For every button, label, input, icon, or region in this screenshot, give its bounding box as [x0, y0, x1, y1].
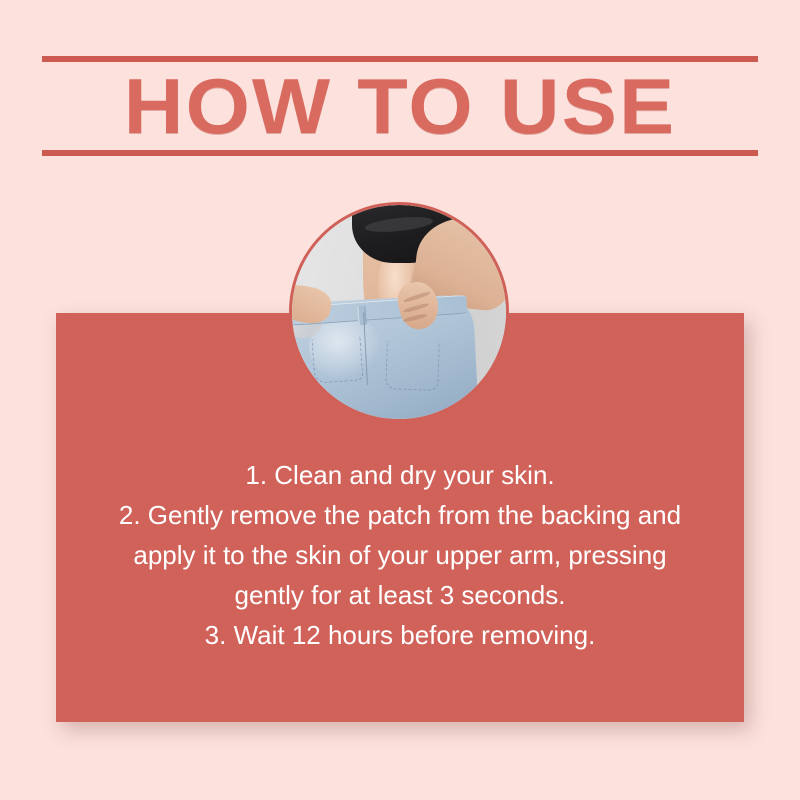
photo-inner [292, 205, 506, 419]
how-to-use-poster: HOW TO USE 1. Clean and dry your skin. 2… [0, 0, 800, 800]
photo-jeans-pocket [385, 341, 440, 391]
header-block: HOW TO USE [42, 56, 758, 156]
instruction-step-line: 3. Wait 12 hours before removing. [56, 615, 744, 655]
instruction-step-line: apply it to the skin of your upper arm, … [56, 535, 744, 575]
instruction-step-line: 1. Clean and dry your skin. [56, 455, 744, 495]
instruction-steps-list: 1. Clean and dry your skin. 2. Gently re… [56, 455, 744, 655]
title-rule-bottom [42, 150, 758, 156]
photo-jeans-pocket [312, 336, 364, 383]
instruction-step-line: 2. Gently remove the patch from the back… [56, 495, 744, 535]
page-title: HOW TO USE [21, 62, 780, 150]
circular-photo [289, 202, 509, 422]
instruction-step-line: gently for at least 3 seconds. [56, 575, 744, 615]
